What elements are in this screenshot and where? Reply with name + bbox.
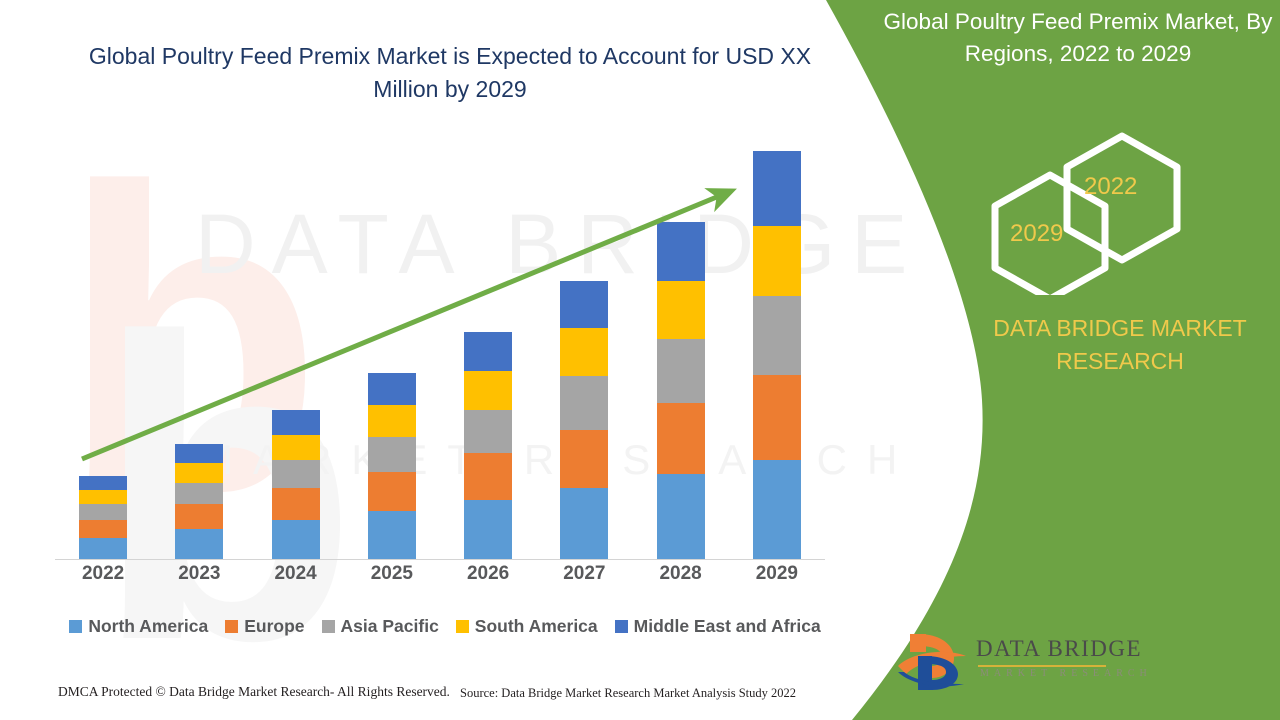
logo-wordmark: DATA BRIDGE bbox=[976, 636, 1142, 662]
bar-segment[interactable] bbox=[272, 520, 320, 559]
bar-slot bbox=[344, 151, 440, 559]
bar-slot bbox=[248, 151, 344, 559]
bar-segment[interactable] bbox=[657, 281, 705, 340]
bar-segment[interactable] bbox=[272, 488, 320, 520]
bar-segment[interactable] bbox=[175, 444, 223, 464]
x-axis-label-2027: 2027 bbox=[536, 563, 632, 585]
bar-slot bbox=[440, 151, 536, 559]
bar-segment[interactable] bbox=[368, 373, 416, 405]
legend-label: Europe bbox=[244, 616, 304, 637]
bar-slot bbox=[151, 151, 247, 559]
panel-title: Global Poultry Feed Premix Market, By Re… bbox=[876, 6, 1280, 70]
logo-tagline: MARKET RESEARCH bbox=[980, 668, 1152, 679]
stacked-bar-2028[interactable] bbox=[657, 222, 705, 559]
bar-slot bbox=[536, 151, 632, 559]
bar-segment[interactable] bbox=[753, 226, 801, 297]
bar-segment[interactable] bbox=[464, 453, 512, 501]
x-axis-label-2028: 2028 bbox=[633, 563, 729, 585]
bar-segment[interactable] bbox=[175, 529, 223, 559]
x-axis-line bbox=[55, 559, 825, 560]
legend-swatch-icon bbox=[615, 620, 628, 633]
bar-segment[interactable] bbox=[657, 339, 705, 403]
legend-label: Asia Pacific bbox=[341, 616, 439, 637]
x-axis-label-2023: 2023 bbox=[151, 563, 247, 585]
legend-label: South America bbox=[475, 616, 598, 637]
bar-segment[interactable] bbox=[79, 504, 127, 520]
bar-segment[interactable] bbox=[272, 410, 320, 435]
hex-badge-2029-label: 2029 bbox=[1010, 220, 1063, 248]
bar-segment[interactable] bbox=[272, 435, 320, 460]
bar-segment[interactable] bbox=[560, 430, 608, 489]
chart-plot-area bbox=[55, 150, 825, 560]
stacked-bar-2024[interactable] bbox=[272, 410, 320, 559]
legend-swatch-icon bbox=[322, 620, 335, 633]
bar-segment[interactable] bbox=[368, 405, 416, 437]
data-bridge-logo: DATA BRIDGE MARKET RESEARCH bbox=[896, 632, 1108, 694]
bar-segment[interactable] bbox=[753, 375, 801, 460]
legend-item[interactable]: Middle East and Africa bbox=[615, 616, 821, 637]
bar-segment[interactable] bbox=[175, 483, 223, 504]
bar-segment[interactable] bbox=[175, 463, 223, 483]
x-axis-label-2024: 2024 bbox=[248, 563, 344, 585]
bar-segment[interactable] bbox=[560, 281, 608, 329]
bar-segment[interactable] bbox=[657, 222, 705, 281]
bar-segment[interactable] bbox=[753, 296, 801, 374]
bar-segment[interactable] bbox=[272, 460, 320, 488]
legend-swatch-icon bbox=[456, 620, 469, 633]
legend-swatch-icon bbox=[225, 620, 238, 633]
legend-label: North America bbox=[88, 616, 208, 637]
bar-segment[interactable] bbox=[657, 474, 705, 559]
bar-segment[interactable] bbox=[79, 520, 127, 538]
hex-badge-2022-label: 2022 bbox=[1084, 173, 1137, 201]
bar-slot bbox=[633, 151, 729, 559]
legend-item[interactable]: South America bbox=[456, 616, 598, 637]
chart-title: Global Poultry Feed Premix Market is Exp… bbox=[60, 40, 840, 106]
stacked-bar-2029[interactable] bbox=[753, 151, 801, 559]
bar-segment[interactable] bbox=[368, 437, 416, 472]
chart-legend: North AmericaEuropeAsia PacificSouth Ame… bbox=[55, 616, 835, 637]
legend-item[interactable]: Europe bbox=[225, 616, 304, 637]
bar-segment[interactable] bbox=[79, 476, 127, 490]
stacked-bar-2027[interactable] bbox=[560, 281, 608, 559]
bar-segment[interactable] bbox=[560, 328, 608, 376]
footer-source: Source: Data Bridge Market Research Mark… bbox=[460, 686, 796, 701]
x-axis-label-2026: 2026 bbox=[440, 563, 536, 585]
infographic-slide: b b DATA BRIDGE MARKET RESEARCH Global P… bbox=[0, 0, 1280, 720]
bar-segment[interactable] bbox=[464, 371, 512, 410]
stacked-bar-2022[interactable] bbox=[79, 476, 127, 559]
bar-segment[interactable] bbox=[175, 504, 223, 529]
legend-label: Middle East and Africa bbox=[634, 616, 821, 637]
x-axis-labels: 20222023202420252026202720282029 bbox=[55, 563, 825, 585]
panel-brand-name: DATA BRIDGE MARKET RESEARCH bbox=[960, 312, 1280, 378]
legend-swatch-icon bbox=[69, 620, 82, 633]
bar-segment[interactable] bbox=[368, 472, 416, 511]
legend-item[interactable]: Asia Pacific bbox=[322, 616, 439, 637]
data-bridge-mark-icon bbox=[896, 632, 974, 692]
footer-copyright: DMCA Protected © Data Bridge Market Rese… bbox=[58, 684, 450, 700]
bar-segment[interactable] bbox=[464, 332, 512, 371]
logo-divider bbox=[978, 665, 1106, 667]
hexagon-outlines-icon bbox=[975, 130, 1190, 295]
bar-segment[interactable] bbox=[79, 538, 127, 559]
x-axis-label-2025: 2025 bbox=[344, 563, 440, 585]
bar-segment[interactable] bbox=[464, 500, 512, 559]
bar-segment[interactable] bbox=[560, 488, 608, 559]
stacked-bar-2026[interactable] bbox=[464, 332, 512, 559]
bar-segment[interactable] bbox=[368, 511, 416, 559]
stacked-bar-2023[interactable] bbox=[175, 444, 223, 559]
bar-segment[interactable] bbox=[79, 490, 127, 504]
stacked-bar-2025[interactable] bbox=[368, 373, 416, 559]
bar-slot bbox=[55, 151, 151, 559]
stacked-bar-group bbox=[55, 151, 825, 559]
bar-segment[interactable] bbox=[464, 410, 512, 453]
legend-item[interactable]: North America bbox=[69, 616, 208, 637]
hexagon-badges: 2022 2029 bbox=[975, 130, 1190, 295]
x-axis-label-2022: 2022 bbox=[55, 563, 151, 585]
bar-segment[interactable] bbox=[560, 376, 608, 429]
bar-segment[interactable] bbox=[753, 151, 801, 226]
bar-segment[interactable] bbox=[753, 460, 801, 559]
bar-segment[interactable] bbox=[657, 403, 705, 474]
